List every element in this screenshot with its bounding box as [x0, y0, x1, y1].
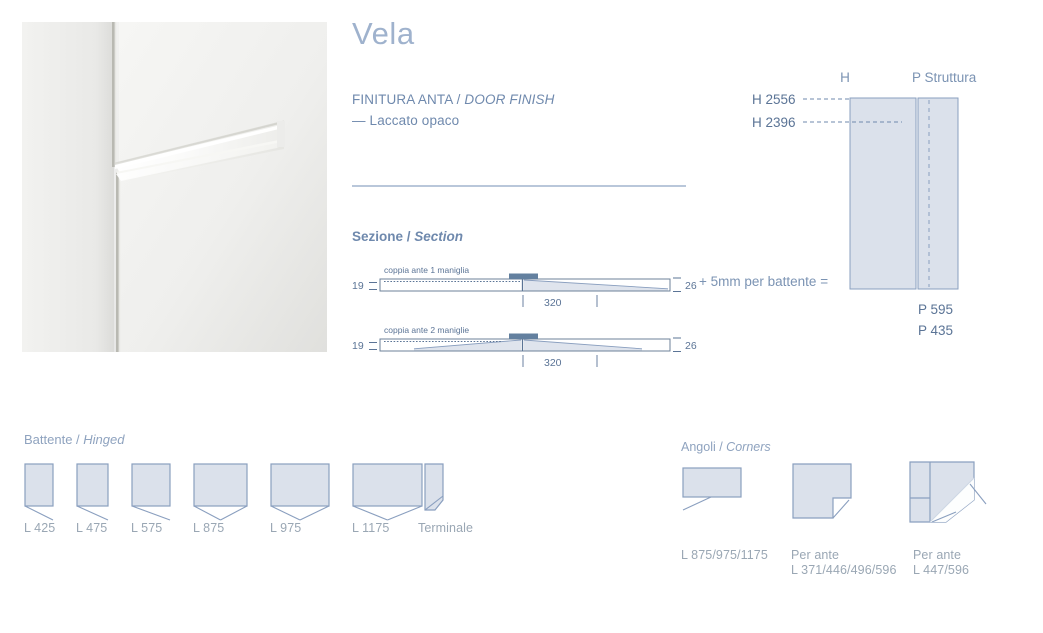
hinged-heading-en: Hinged — [83, 432, 124, 447]
corner-label-rect-line1: L 875/975/1175 — [681, 548, 768, 563]
structure-depth-595: P 595 — [918, 302, 953, 317]
section-one-span-dim: 320 — [544, 297, 562, 309]
section-heading-en: Section — [414, 229, 463, 244]
finish-value: — Laccato opaco — [352, 113, 459, 128]
corners-heading-separator: / — [716, 440, 726, 454]
hinged-shape-l475 — [77, 464, 108, 520]
hinged-heading-separator: / — [72, 432, 83, 447]
structure-column-h-label: H — [840, 70, 850, 85]
hinged-shape-gallery — [24, 462, 494, 524]
hinged-label-l425: L 425 — [24, 521, 55, 535]
corners-shape-gallery — [681, 460, 1001, 550]
finish-heading-en: DOOR FINISH — [464, 92, 554, 107]
corner-shape-l — [793, 464, 851, 518]
finish-heading-separator: / — [453, 92, 465, 107]
hinged-label-terminale: Terminale — [418, 521, 473, 535]
hinged-heading: Battente / Hinged — [24, 432, 124, 447]
finish-heading: FINITURA ANTA / DOOR FINISH — [352, 92, 555, 107]
section-diagram-two-handles: coppia ante 2 maniglie 19 26 320 — [352, 324, 697, 374]
section-heading-separator: / — [403, 229, 414, 244]
structure-height-2556: H 2556 — [752, 92, 796, 107]
finish-heading-it: FINITURA ANTA — [352, 92, 453, 107]
corner-label-split-line2: L 447/596 — [913, 563, 969, 578]
section-one-left-dim: 19 — [352, 280, 364, 292]
section-two-span-dim: 320 — [544, 357, 562, 369]
hinged-shape-l575 — [132, 464, 170, 520]
hinged-label-l575: L 575 — [131, 521, 162, 535]
hinged-shape-l425 — [25, 464, 53, 520]
section-heading: Sezione / Section — [352, 229, 463, 244]
hinged-label-l1175: L 1175 — [352, 521, 389, 535]
hinged-label-l875: L 875 — [193, 521, 224, 535]
section-heading-it: Sezione — [352, 229, 403, 244]
divider-rule — [352, 185, 686, 187]
section-one-caption: coppia ante 1 maniglia — [384, 265, 469, 275]
page-title: Vela — [352, 16, 415, 52]
section-two-caption: coppia ante 2 maniglie — [384, 325, 469, 335]
structure-height-2396: H 2396 — [752, 115, 796, 130]
corner-label-l-line1: Per ante — [791, 548, 897, 563]
corner-label-split: Per ante L 447/596 — [913, 548, 969, 578]
structure-depth-435: P 435 — [918, 323, 953, 338]
section-two-left-dim: 19 — [352, 340, 364, 352]
hinged-label-l475: L 475 — [76, 521, 107, 535]
product-photo — [22, 22, 327, 352]
hinged-shape-terminale — [425, 464, 443, 510]
hinged-shape-l975 — [271, 464, 329, 520]
hinged-label-l975: L 975 — [270, 521, 301, 535]
corner-label-rect: L 875/975/1175 — [681, 548, 768, 563]
hinged-heading-it: Battente — [24, 432, 72, 447]
corner-label-split-line1: Per ante — [913, 548, 969, 563]
corner-label-l-line2: L 371/446/496/596 — [791, 563, 897, 578]
structure-column-p-label: P Struttura — [912, 70, 977, 85]
section-diagram-one-handle: coppia ante 1 maniglia 19 26 320 — [352, 264, 697, 314]
corners-heading: Angoli / Corners — [681, 440, 771, 454]
structure-diagram: H P Struttura H 2556 H 2396 + 5mm per ba… — [690, 58, 1010, 348]
hinged-shape-l875 — [194, 464, 247, 520]
product-photo-image — [22, 22, 327, 352]
corner-shape-split — [910, 462, 986, 522]
corner-shape-rect — [683, 468, 741, 510]
structure-note: + 5mm per battente = — [699, 274, 828, 289]
corners-heading-it: Angoli — [681, 440, 716, 454]
corners-heading-en: Corners — [726, 440, 770, 454]
hinged-shape-l1175 — [353, 464, 422, 520]
corner-label-l: Per ante L 371/446/496/596 — [791, 548, 897, 578]
